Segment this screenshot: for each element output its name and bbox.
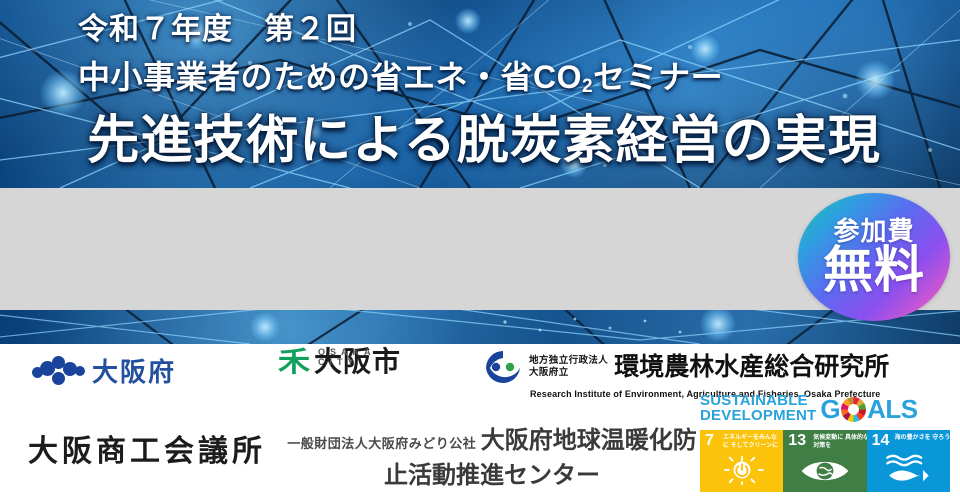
circle-dots-mark-svg: [484, 350, 522, 384]
hero-subtitle: 中小事業者のための省エネ・省CO2セミナー: [78, 52, 723, 98]
sdg-tile-14: 14 海の豊かさを 守ろう: [867, 430, 950, 492]
page-title: 先進技術による脱炭素経営の実現: [44, 98, 924, 173]
divider-strip: [0, 310, 960, 344]
sdg-goals-g: G: [820, 396, 840, 422]
hero-eyebrow: 令和７年度 第２回: [78, 4, 357, 48]
logo-osaka-city: OSAKA CITY 禾 大阪市: [280, 348, 401, 376]
sun-power-svg: [717, 453, 767, 485]
sdg-tile-14-text: 海の豊かさを 守ろう: [895, 434, 950, 442]
free-admission-badge: 参加費 無料: [798, 193, 950, 321]
sdg-goals-als: ALS: [867, 396, 918, 422]
research-institute-mark-icon: [484, 350, 522, 384]
co2-subscript: 2: [582, 76, 593, 97]
hero-subtitle-b: セミナー: [593, 59, 723, 95]
badge-value: 無料: [798, 245, 950, 295]
sdg-tile-13-text: 気候変動に 具体的な対策を: [813, 434, 866, 450]
sdg-wordmark: SUSTAINABLE DEVELOPMENT G ALS: [700, 392, 950, 426]
eye-earth-icon: [783, 457, 866, 490]
research-institute-name: 環境農林水産総合研究所: [614, 355, 889, 380]
sdg-tile-7-number: 7: [705, 433, 714, 449]
sdg-block: SUSTAINABLE DEVELOPMENT G ALS 7 エネルギーをみん…: [700, 392, 950, 492]
divider-network-graphic: [0, 310, 960, 344]
hero-subtitle-a: 中小事業者のための省エネ・省CO: [78, 59, 582, 95]
eye-earth-svg: [795, 457, 855, 485]
sdg-goals-word: G ALS: [820, 396, 917, 422]
osaka-prefecture-name: 大阪府: [92, 352, 176, 389]
sdg-color-wheel-icon: [841, 397, 866, 422]
sdg-word-development: DEVELOPMENT: [700, 409, 816, 424]
logo-osaka-cci: 大阪商工会議所: [28, 426, 266, 470]
bokeh-dot: [250, 312, 280, 342]
sdg-tile-7: 7 エネルギーをみんなに そしてクリーンに: [700, 430, 783, 492]
osaka-city-mark-icon: 禾: [278, 348, 310, 376]
sdg-tile-13-number: 13: [788, 433, 806, 449]
sdg-tile-7-text: エネルギーをみんなに そしてクリーンに: [723, 434, 781, 450]
research-institute-row: 地方独立行政法人 大阪府立 環境農林水産総合研究所: [484, 350, 889, 384]
sdg-tile-14-number: 14: [872, 433, 890, 449]
osaka-city-eyebrow: OSAKA CITY: [318, 347, 401, 367]
logo-osaka-prefecture: 大阪府: [32, 352, 176, 389]
seminar-poster: 令和７年度 第２回 中小事業者のための省エネ・省CO2セミナー 先進技術による脱…: [0, 0, 960, 503]
fish-waves-svg: [878, 453, 938, 485]
osaka-prefecture-mark-icon: [32, 356, 84, 386]
research-institute-prefix: 地方独立行政法人 大阪府立: [529, 355, 608, 379]
sdg-words: SUSTAINABLE DEVELOPMENT: [700, 394, 816, 423]
hero-text-block: 令和７年度 第２回 中小事業者のための省エネ・省CO2セミナー 先進技術による脱…: [0, 0, 960, 188]
research-institute-prefix-1: 地方独立行政法人: [529, 355, 608, 366]
sdg-tiles: 7 エネルギーをみんなに そしてクリーンに: [700, 430, 950, 492]
research-institute-prefix-2: 大阪府立: [529, 367, 569, 378]
sun-power-icon: [700, 453, 783, 490]
osaka-cci-name: 大阪商工会議所: [28, 426, 266, 470]
midori-small-line: 一般財団法人大阪府みどり公社: [287, 436, 476, 451]
sdg-tile-13: 13 気候変動に 具体的な対策を: [783, 430, 866, 492]
logo-midori-center: 一般財団法人大阪府みどり公社 大阪府地球温暖化防止活動推進センター: [286, 420, 698, 490]
fish-waves-icon: [867, 453, 950, 490]
